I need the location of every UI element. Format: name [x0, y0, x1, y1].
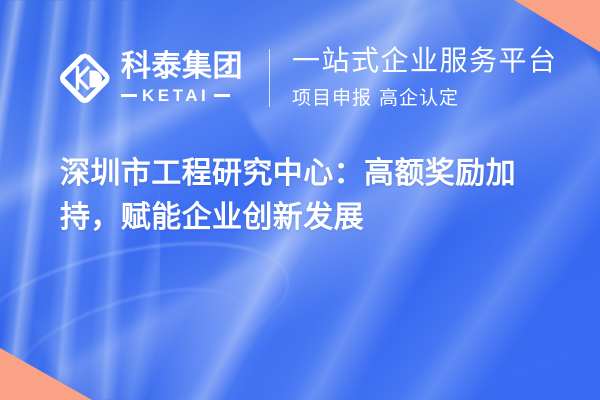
headline-text: 深圳市工程研究中心：高额奖励加持，赋能企业创新发展 — [60, 152, 544, 241]
wordmark-dash-left — [121, 94, 137, 97]
header-tagline: 一站式企业服务平台 项目申报 高企认定 — [292, 46, 558, 111]
brand-logo-wordmark: 科泰集团 KETAI — [121, 52, 243, 104]
brand-name-cn: 科泰集团 — [121, 52, 243, 82]
promo-banner: 科泰集团 KETAI 一站式企业服务平台 项目申报 高企认定 深圳市工程研究中心… — [0, 0, 600, 400]
wordmark-dash-right — [214, 94, 230, 97]
brand-logo[interactable]: 科泰集团 KETAI — [58, 51, 243, 105]
tagline-primary: 一站式企业服务平台 — [292, 46, 558, 77]
tagline-secondary: 项目申报 高企认定 — [292, 83, 558, 110]
brand-name-en: KETAI — [142, 87, 209, 104]
banner-header: 科泰集团 KETAI 一站式企业服务平台 项目申报 高企认定 — [0, 40, 600, 116]
ketai-diamond-monogram-icon — [58, 51, 112, 105]
brand-name-en-row: KETAI — [121, 87, 243, 104]
header-divider — [269, 49, 270, 107]
